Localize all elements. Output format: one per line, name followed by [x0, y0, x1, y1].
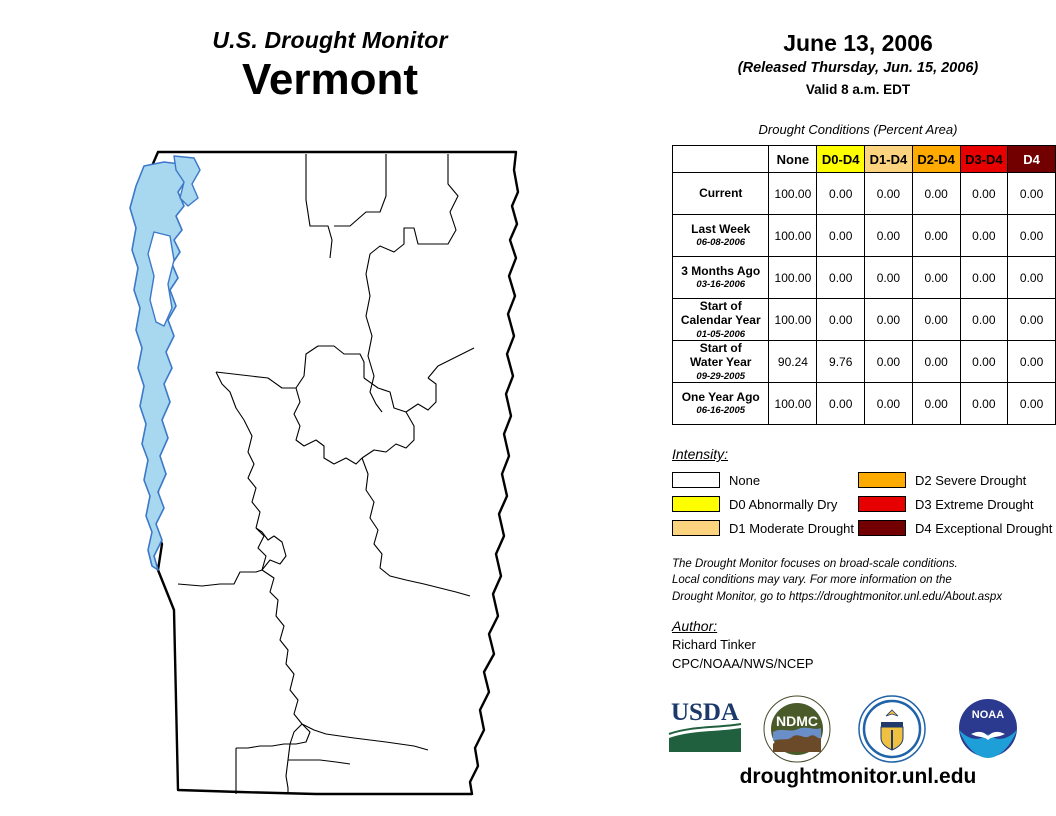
- cell-cal-year-none: 100.00: [769, 299, 817, 341]
- ndmc-wordmark: NDMC: [776, 713, 818, 729]
- legend-swatch-d2: [858, 472, 906, 488]
- cell-3mo-d0: 0.00: [817, 257, 865, 299]
- commerce-shield-top: [881, 722, 903, 727]
- row-label-date: 06-08-2006: [673, 237, 768, 248]
- cell-water-year-d4: 0.00: [1008, 341, 1056, 383]
- legend-label-d0: D0 Abnormally Dry: [729, 497, 837, 512]
- table-row: 3 Months Ago 03-16-2006 100.00 0.00 0.00…: [673, 257, 1056, 299]
- cell-one-year-d1: 0.00: [865, 383, 913, 425]
- table-header-row: None D0-D4 D1-D4 D2-D4 D3-D4 D4: [673, 146, 1056, 173]
- drought-conditions-table: None D0-D4 D1-D4 D2-D4 D3-D4 D4 Current …: [672, 145, 1056, 425]
- cell-3mo-d1: 0.00: [865, 257, 913, 299]
- cell-last-week-d2: 0.00: [912, 215, 960, 257]
- cell-one-year-d2: 0.00: [912, 383, 960, 425]
- cell-current-d4: 0.00: [1008, 173, 1056, 215]
- author-affiliation: CPC/NOAA/NWS/NCEP: [672, 655, 814, 674]
- legend-swatch-d0: [672, 496, 720, 512]
- cell-cal-year-d2: 0.00: [912, 299, 960, 341]
- legend-item-none: None: [672, 468, 860, 492]
- row-label-start-calendar-year: Start of Calendar Year 01-05-2006: [673, 299, 769, 341]
- table-row: Current 100.00 0.00 0.00 0.00 0.00 0.00: [673, 173, 1056, 215]
- legend-label-d1: D1 Moderate Drought: [729, 521, 854, 536]
- row-label-date: 09-29-2005: [673, 371, 768, 382]
- cell-water-year-d2: 0.00: [912, 341, 960, 383]
- table-caption: Drought Conditions (Percent Area): [660, 122, 1056, 137]
- disclaimer-line-2: Local conditions may vary. For more info…: [672, 572, 1056, 588]
- legend-column-left: None D0 Abnormally Dry D1 Moderate Droug…: [672, 468, 860, 540]
- usda-wordmark: USDA: [671, 699, 739, 726]
- disclaimer-text: The Drought Monitor focuses on broad-sca…: [672, 556, 1056, 605]
- cell-last-week-d4: 0.00: [1008, 215, 1056, 257]
- logo-row: USDA NDMC: [660, 694, 1056, 764]
- table-row: One Year Ago 06-16-2005 100.00 0.00 0.00…: [673, 383, 1056, 425]
- column-header-d2-d4: D2-D4: [912, 146, 960, 173]
- legend-swatch-d1: [672, 520, 720, 536]
- date-header-block: June 13, 2006 (Released Thursday, Jun. 1…: [660, 30, 1056, 99]
- disclaimer-line-1: The Drought Monitor focuses on broad-sca…: [672, 556, 1056, 572]
- row-label-line2: Water Year: [690, 355, 751, 369]
- legend-item-d1: D1 Moderate Drought: [672, 516, 860, 540]
- cell-cal-year-d1: 0.00: [865, 299, 913, 341]
- usda-logo-svg: USDA: [665, 694, 745, 756]
- row-label-one-year-ago: One Year Ago 06-16-2005: [673, 383, 769, 425]
- cell-last-week-d0: 0.00: [817, 215, 865, 257]
- table-row: Last Week 06-08-2006 100.00 0.00 0.00 0.…: [673, 215, 1056, 257]
- program-title: U.S. Drought Monitor: [0, 28, 660, 53]
- cell-cal-year-d0: 0.00: [817, 299, 865, 341]
- cell-last-week-d1: 0.00: [865, 215, 913, 257]
- row-label-line1: Start of: [700, 341, 742, 355]
- intensity-heading: Intensity:: [672, 446, 728, 462]
- cell-one-year-none: 100.00: [769, 383, 817, 425]
- cell-3mo-d2: 0.00: [912, 257, 960, 299]
- map-svg: [118, 140, 538, 800]
- row-label-current: Current: [673, 173, 769, 215]
- released-date: (Released Thursday, Jun. 15, 2006): [660, 59, 1056, 78]
- commerce-seal-logo: [857, 694, 927, 764]
- cell-water-year-none: 90.24: [769, 341, 817, 383]
- table-row: Start of Water Year 09-29-2005 90.24 9.7…: [673, 341, 1056, 383]
- legend-label-d3: D3 Extreme Drought: [915, 497, 1034, 512]
- site-url[interactable]: droughtmonitor.unl.edu: [660, 765, 1056, 789]
- legend-item-d0: D0 Abnormally Dry: [672, 492, 860, 516]
- cell-cal-year-d4: 0.00: [1008, 299, 1056, 341]
- row-label-text: Last Week: [691, 222, 750, 236]
- legend-label-d4: D4 Exceptional Drought: [915, 521, 1052, 536]
- legend-swatch-none: [672, 472, 720, 488]
- cell-current-d2: 0.00: [912, 173, 960, 215]
- cell-one-year-d0: 0.00: [817, 383, 865, 425]
- cell-3mo-d3: 0.00: [960, 257, 1008, 299]
- cell-one-year-d3: 0.00: [960, 383, 1008, 425]
- vermont-drought-map: [118, 140, 538, 800]
- legend-swatch-d3: [858, 496, 906, 512]
- cell-current-none: 100.00: [769, 173, 817, 215]
- table-corner-cell: [673, 146, 769, 173]
- cell-3mo-none: 100.00: [769, 257, 817, 299]
- commerce-seal-svg: [857, 694, 927, 764]
- noaa-wordmark: NOAA: [972, 709, 1004, 721]
- author-heading: Author:: [672, 618, 717, 634]
- valid-time: Valid 8 a.m. EDT: [660, 81, 1056, 99]
- row-label-date: 06-16-2005: [673, 405, 768, 416]
- column-header-d1-d4: D1-D4: [865, 146, 913, 173]
- usda-logo: USDA: [665, 694, 745, 764]
- row-label-line1: Start of: [700, 299, 742, 313]
- noaa-logo-svg: NOAA: [953, 694, 1023, 764]
- legend-label-none: None: [729, 473, 760, 488]
- cell-cal-year-d3: 0.00: [960, 299, 1008, 341]
- map-title-block: U.S. Drought Monitor Vermont: [0, 28, 660, 103]
- row-label-date: 01-05-2006: [673, 329, 768, 340]
- row-label-3-months-ago: 3 Months Ago 03-16-2006: [673, 257, 769, 299]
- right-panel: June 13, 2006 (Released Thursday, Jun. 1…: [660, 0, 1056, 816]
- table-row: Start of Calendar Year 01-05-2006 100.00…: [673, 299, 1056, 341]
- state-title: Vermont: [0, 57, 660, 103]
- row-label-text: 3 Months Ago: [681, 264, 760, 278]
- legend-item-d4: D4 Exceptional Drought: [858, 516, 1046, 540]
- legend-item-d3: D3 Extreme Drought: [858, 492, 1046, 516]
- cell-3mo-d4: 0.00: [1008, 257, 1056, 299]
- column-header-d4: D4: [1008, 146, 1056, 173]
- noaa-logo: NOAA: [953, 694, 1023, 764]
- ndmc-logo-svg: NDMC: [762, 694, 832, 764]
- cell-water-year-d1: 0.00: [865, 341, 913, 383]
- author-block: Richard Tinker CPC/NOAA/NWS/NCEP: [672, 636, 814, 674]
- cell-last-week-d3: 0.00: [960, 215, 1008, 257]
- cell-water-year-d3: 0.00: [960, 341, 1008, 383]
- row-label-text: One Year Ago: [682, 390, 760, 404]
- row-label-date: 03-16-2006: [673, 279, 768, 290]
- column-header-d0-d4: D0-D4: [817, 146, 865, 173]
- row-label-start-water-year: Start of Water Year 09-29-2005: [673, 341, 769, 383]
- disclaimer-line-3: Drought Monitor, go to https://droughtmo…: [672, 589, 1056, 605]
- legend-item-d2: D2 Severe Drought: [858, 468, 1046, 492]
- ndmc-logo: NDMC: [762, 694, 832, 764]
- cell-current-d0: 0.00: [817, 173, 865, 215]
- valid-date: June 13, 2006: [660, 30, 1056, 56]
- cell-current-d1: 0.00: [865, 173, 913, 215]
- cell-last-week-none: 100.00: [769, 215, 817, 257]
- cell-current-d3: 0.00: [960, 173, 1008, 215]
- row-label-line2: Calendar Year: [681, 313, 761, 327]
- row-label-text: Current: [699, 186, 742, 200]
- column-header-none: None: [769, 146, 817, 173]
- row-label-last-week: Last Week 06-08-2006: [673, 215, 769, 257]
- cell-one-year-d4: 0.00: [1008, 383, 1056, 425]
- legend-label-d2: D2 Severe Drought: [915, 473, 1026, 488]
- author-name: Richard Tinker: [672, 636, 814, 655]
- legend-column-right: D2 Severe Drought D3 Extreme Drought D4 …: [858, 468, 1046, 540]
- column-header-d3-d4: D3-D4: [960, 146, 1008, 173]
- cell-water-year-d0: 9.76: [817, 341, 865, 383]
- legend-swatch-d4: [858, 520, 906, 536]
